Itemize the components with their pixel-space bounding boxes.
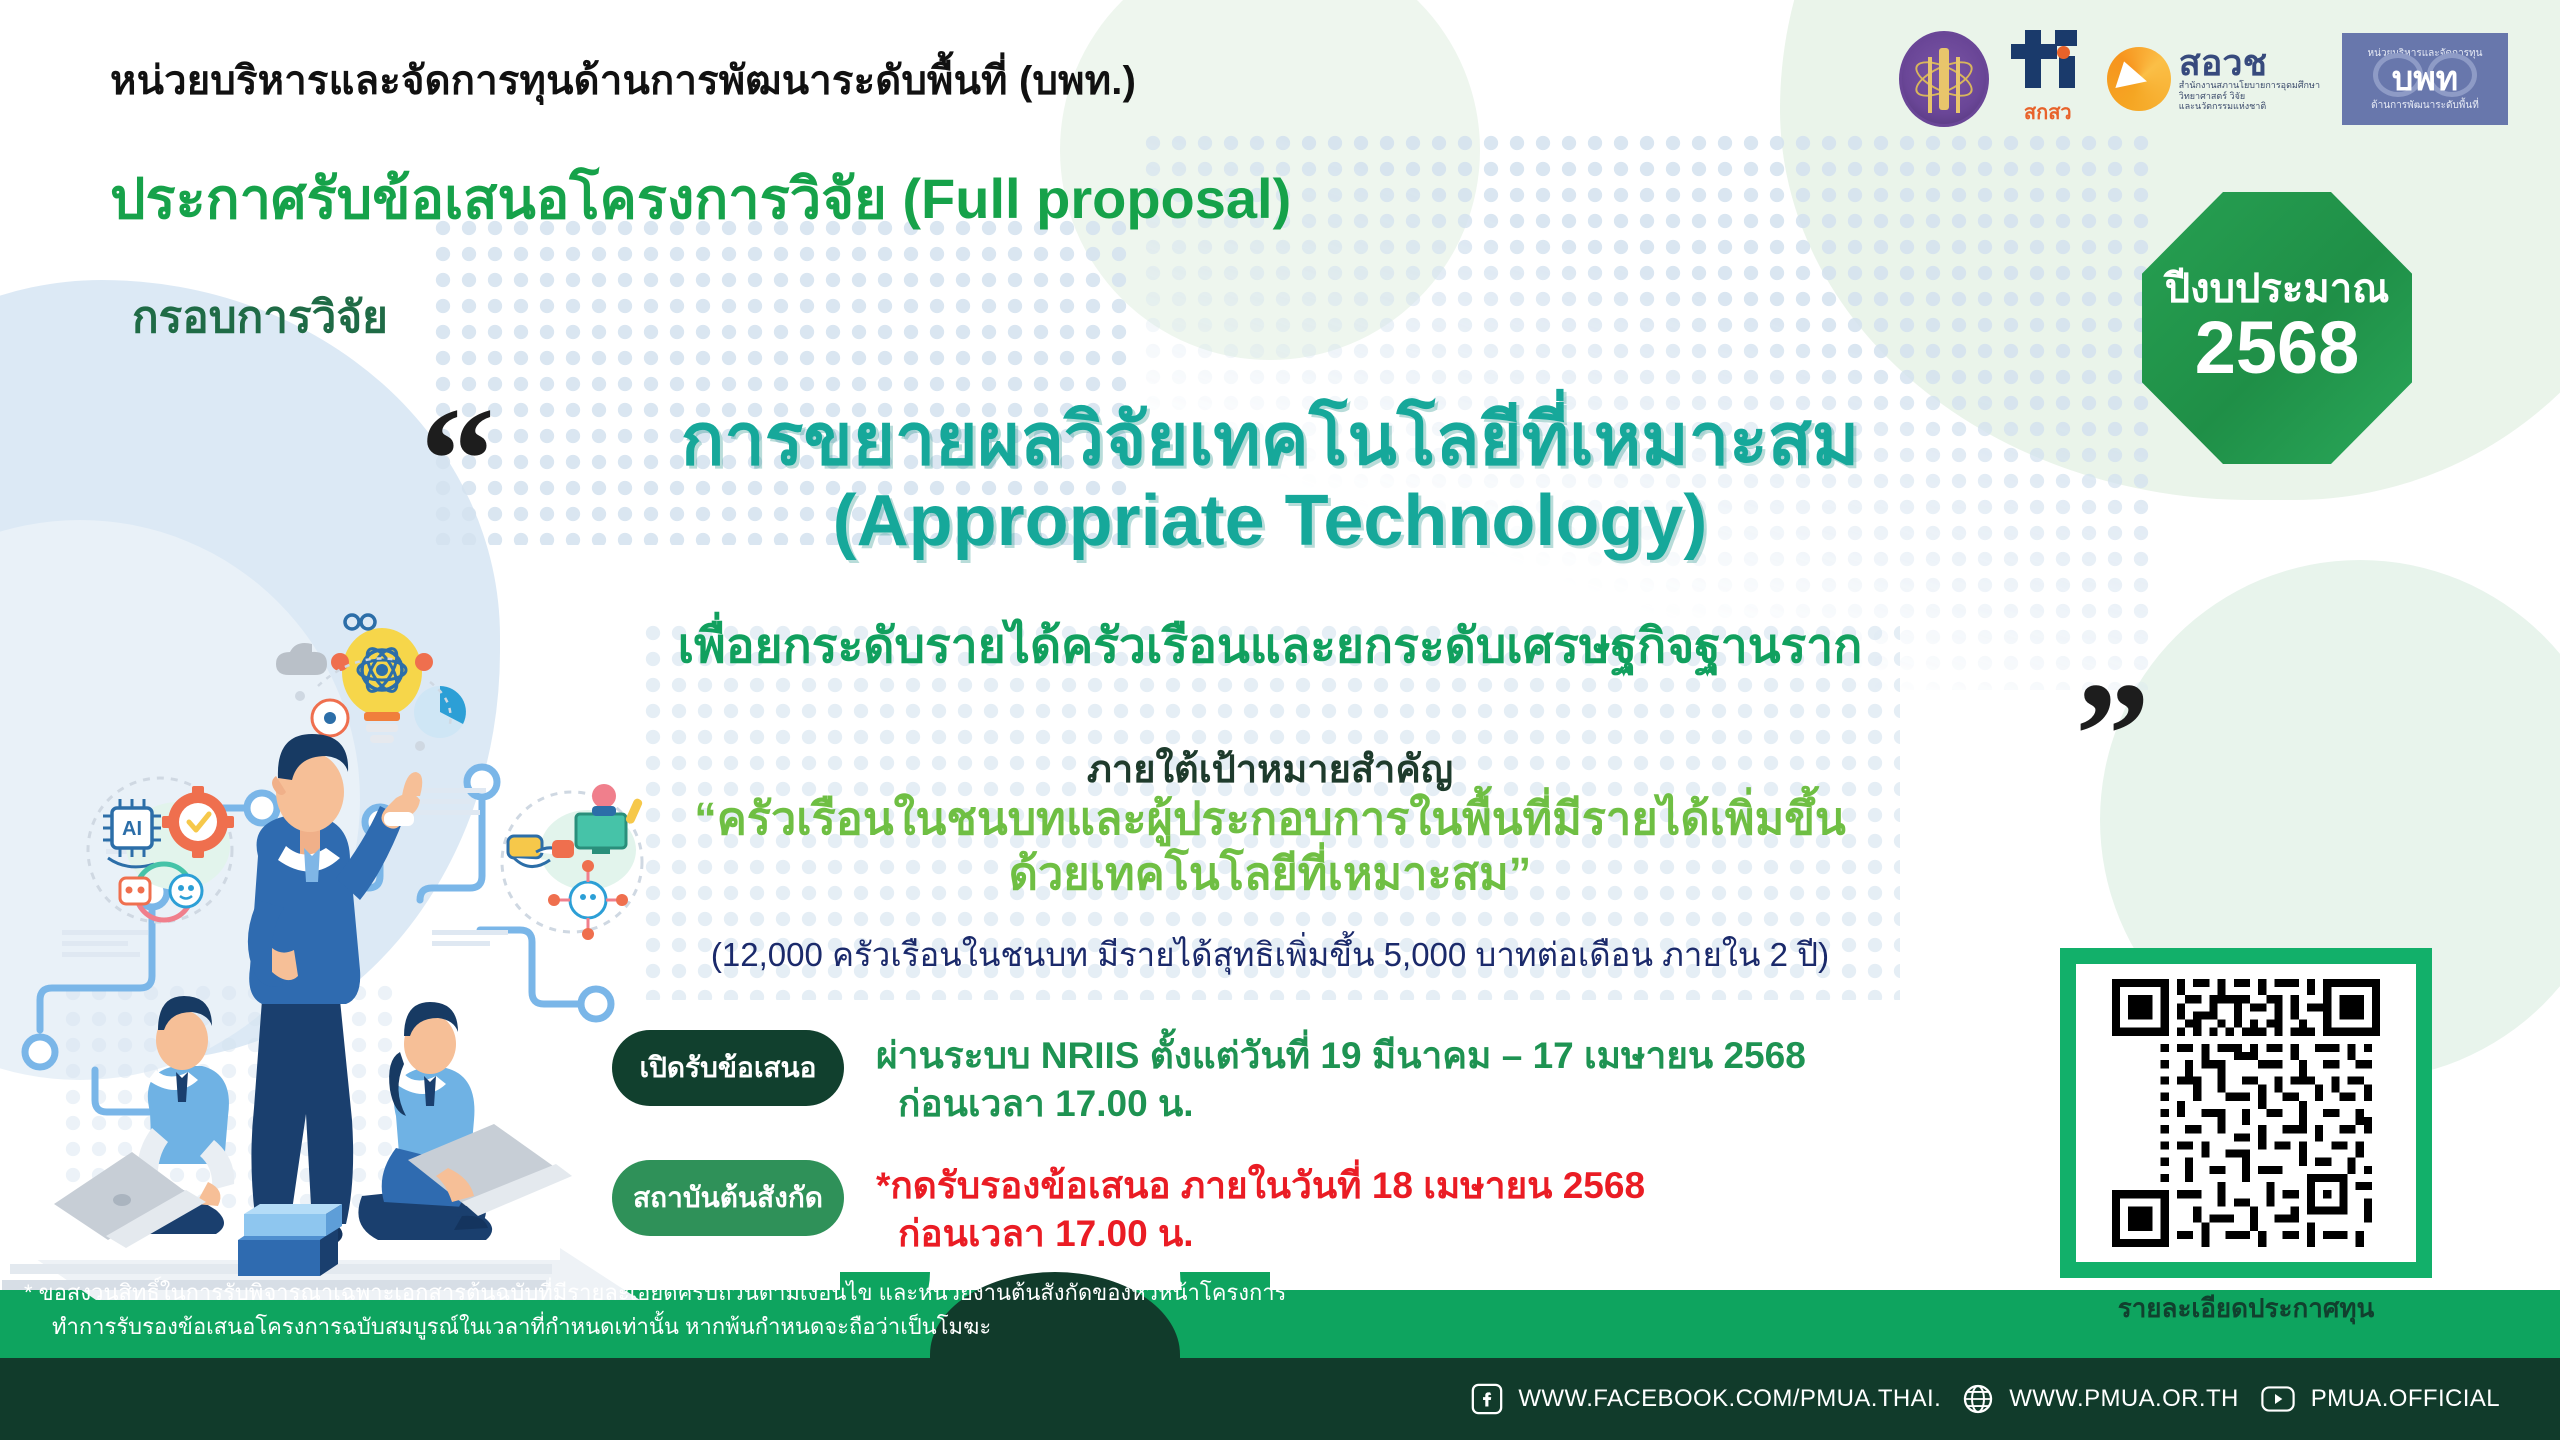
institute-approval-text: *กดรับรองข้อเสนอ ภายในวันที่ 18 เมษายน 2… (876, 1160, 1645, 1258)
skasow-logo: สกสว (2011, 30, 2085, 128)
bopot-bottom-text: ด้านการพัฒนาระดับพื้นที่ (2371, 98, 2479, 113)
institute-line1: *กดรับรองข้อเสนอ ภายในวันที่ 18 เมษายน 2… (876, 1165, 1645, 1206)
logo-strip: สกสว สอวช สำนักงานสภานโยบายการอุดมศึกษา … (1899, 30, 2508, 128)
youtube-icon (2259, 1382, 2297, 1416)
website-link[interactable]: WWW.PMUA.OR.TH (1961, 1382, 2239, 1416)
stacked-books (238, 1204, 342, 1276)
research-framework-label: กรอบการวิจัย (132, 282, 388, 352)
main-title-line2: (Appropriate Technology) (470, 481, 2070, 562)
university-seal-icon (1899, 31, 1989, 127)
fiscal-year-label: ปีงบประมาณ (2165, 269, 2390, 309)
main-subtitle: เพื่อยกระดับรายได้ครัวเรือนและยกระดับเศร… (430, 608, 2110, 684)
disclaimer-text: * ขอสงวนสิทธิ์ในการรับพิจารณาเฉพาะเอกสาร… (24, 1276, 1286, 1344)
qr-code-icon[interactable] (2112, 979, 2380, 1247)
bopot-logo: หน่วยบริหารและจัดการทุน บพท ด้านการพัฒนา… (2342, 33, 2508, 125)
facebook-link[interactable]: WWW.FACEBOOK.COM/PMUA.THAI. (1470, 1382, 1941, 1416)
open-submission-text: ผ่านระบบ NRIIS ตั้งแต่วันที่ 19 มีนาคม –… (876, 1030, 1806, 1128)
sorwop-swoosh-icon (2107, 47, 2171, 111)
goal-quote: “ครัวเรือนในชนบทและผู้ประกอบการในพื้นที่… (480, 792, 2060, 902)
facebook-icon (1470, 1382, 1504, 1416)
globe-icon (1961, 1382, 1995, 1416)
announcement-title: ประกาศรับข้อเสนอโครงการวิจัย (Full propo… (110, 154, 1291, 243)
fiscal-year-value: 2568 (2195, 309, 2360, 387)
seated-woman-laptop-figure (358, 1002, 572, 1240)
goal-quote-line1: “ครัวเรือนในชนบทและผู้ประกอบการในพื้นที่… (694, 793, 1846, 844)
social-bar: WWW.FACEBOOK.COM/PMUA.THAI. WWW.PMUA.OR.… (1470, 1358, 2500, 1440)
open-submission-line1: ผ่านระบบ NRIIS ตั้งแต่วันที่ 19 มีนาคม –… (876, 1035, 1806, 1076)
disclaimer-line2: ทำการรับรองข้อเสนอโครงการฉบับสมบูรณ์ในเว… (24, 1310, 1286, 1344)
goal-heading: ภายใต้เป้าหมายสำคัญ (560, 738, 1980, 799)
skasow-mark-icon (2011, 30, 2085, 92)
website-url: WWW.PMUA.OR.TH (2009, 1385, 2239, 1413)
sorwop-label: สอวช (2179, 46, 2320, 80)
bopot-acronym: บพท (2392, 62, 2458, 96)
institute-line2: ก่อนเวลา 17.00 น. (876, 1210, 1645, 1258)
youtube-link[interactable]: PMUA.OFFICIAL (2259, 1382, 2500, 1416)
qr-section[interactable]: รายละเอียดประกาศทุน (2060, 948, 2432, 1329)
sorwop-logo: สอวช สำนักงานสภานโยบายการอุดมศึกษา วิทยา… (2107, 46, 2320, 112)
ai-chip-label: AI (122, 818, 142, 840)
sorwop-sub-3: และนวัตกรรมแห่งชาติ (2179, 101, 2320, 112)
main-title: การขยายผลวิจัยเทคโนโลยีที่เหมาะสม (Appro… (470, 400, 2070, 561)
quote-close-icon: ” (2075, 690, 2150, 780)
open-submission-line2: ก่อนเวลา 17.00 น. (876, 1080, 1806, 1128)
sorwop-sub-2: วิทยาศาสตร์ วิจัย (2179, 91, 2320, 102)
open-submission-pill: เปิดรับข้อเสนอ (612, 1030, 844, 1106)
main-title-line1: การขยายผลวิจัยเทคโนโลยีที่เหมาะสม (681, 400, 1859, 480)
facebook-url: WWW.FACEBOOK.COM/PMUA.THAI. (1518, 1385, 1941, 1413)
goal-quote-line2: ด้วยเทคโนโลยีที่เหมาะสม” (1009, 848, 1532, 899)
poster-canvas: หน่วยบริหารและจัดการทุนด้านการพัฒนาระดับ… (0, 0, 2560, 1440)
skasow-label: สกสว (2011, 96, 2085, 128)
youtube-handle: PMUA.OFFICIAL (2311, 1385, 2500, 1413)
institute-approval-row: สถาบันต้นสังกัด *กดรับรองข้อเสนอ ภายในวั… (612, 1160, 1645, 1258)
seated-man-laptop-figure (54, 996, 234, 1248)
qr-inner (2076, 964, 2416, 1262)
sorwop-sub-1: สำนักงานสภานโยบายการอุดมศึกษา (2179, 80, 2320, 91)
institute-pill: สถาบันต้นสังกัด (612, 1160, 844, 1236)
qr-label: รายละเอียดประกาศทุน (2060, 1288, 2432, 1329)
qr-frame (2060, 948, 2432, 1278)
open-submission-row: เปิดรับข้อเสนอ ผ่านระบบ NRIIS ตั้งแต่วัน… (612, 1030, 1806, 1128)
org-name: หน่วยบริหารและจัดการทุนด้านการพัฒนาระดับ… (110, 48, 1136, 112)
goal-note: (12,000 ครัวเรือนในชนบท มีรายได้สุทธิเพิ… (480, 928, 2060, 981)
disclaimer-line1: * ขอสงวนสิทธิ์ในการรับพิจารณาเฉพาะเอกสาร… (24, 1276, 1286, 1310)
